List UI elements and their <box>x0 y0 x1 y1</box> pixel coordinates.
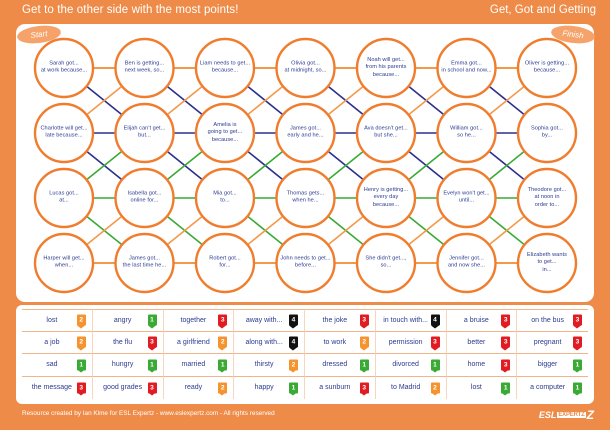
word-bank-word: angry <box>114 317 132 324</box>
points-badge: 3 <box>148 382 157 393</box>
points-badge-tail <box>218 370 226 373</box>
word-bank-word: away with... <box>246 317 283 324</box>
game-circle[interactable] <box>357 169 415 227</box>
points-badge-tail <box>431 325 439 328</box>
points-badge: 2 <box>77 337 86 348</box>
points-badge-tail <box>431 370 439 373</box>
points-badge: 2 <box>289 359 298 370</box>
word-bank-cell[interactable]: thirsty2 <box>234 354 305 377</box>
word-bank-word: a girlfriend <box>177 339 210 346</box>
game-circle[interactable] <box>196 39 254 97</box>
points-badge-tail <box>360 325 368 328</box>
word-bank-cell[interactable]: hungry1 <box>93 354 164 377</box>
game-circle[interactable] <box>438 39 496 97</box>
points-badge: 4 <box>289 337 298 348</box>
word-bank-word: happy <box>255 384 274 391</box>
word-bank-cell[interactable]: along with...4 <box>234 332 305 355</box>
game-circle[interactable] <box>438 169 496 227</box>
word-bank-word: on the bus <box>531 317 564 324</box>
word-bank-cell[interactable]: lost1 <box>447 377 518 400</box>
word-bank-cell[interactable]: a job2 <box>22 332 93 355</box>
word-bank-word: a computer <box>530 384 565 391</box>
points-badge-tail <box>77 393 85 396</box>
word-bank-word: ready <box>185 384 203 391</box>
points-badge: 3 <box>360 382 369 393</box>
game-circle[interactable] <box>277 104 335 162</box>
points-badge-tail <box>218 325 226 328</box>
points-badge-tail <box>77 370 85 373</box>
word-bank-cell[interactable]: ready2 <box>164 377 235 400</box>
points-badge: 2 <box>360 337 369 348</box>
page-subtitle: Get, Got and Getting <box>490 4 596 16</box>
points-badge-tail <box>501 325 509 328</box>
logo-main-text: ESL <box>539 410 557 420</box>
game-circle[interactable] <box>357 104 415 162</box>
points-badge-tail <box>501 370 509 373</box>
word-bank-cell[interactable]: lost2 <box>22 309 93 332</box>
game-board-network <box>16 24 594 302</box>
points-badge: 1 <box>148 315 157 326</box>
word-bank-cell[interactable]: to Madrid2 <box>376 377 447 400</box>
points-badge: 2 <box>431 382 440 393</box>
points-badge-tail <box>289 393 297 396</box>
game-circle[interactable] <box>35 104 93 162</box>
points-badge-tail <box>148 325 156 328</box>
points-badge: 3 <box>501 315 510 326</box>
word-bank-cell[interactable]: a bruise3 <box>447 309 518 332</box>
points-badge-tail <box>77 325 85 328</box>
points-badge-tail <box>77 347 85 350</box>
points-badge: 3 <box>431 337 440 348</box>
game-circle[interactable] <box>116 39 174 97</box>
game-circle[interactable] <box>518 104 576 162</box>
word-bank-cell[interactable]: better3 <box>447 332 518 355</box>
word-bank-word: permission <box>389 339 423 346</box>
word-bank-word: bigger <box>538 361 557 368</box>
points-badge: 1 <box>218 359 227 370</box>
points-badge-tail <box>148 370 156 373</box>
points-badge: 1 <box>148 359 157 370</box>
points-badge-tail <box>501 393 509 396</box>
word-bank-word: hungry <box>112 361 133 368</box>
word-bank-word: a bruise <box>464 317 489 324</box>
word-bank-cell[interactable]: away with...4 <box>234 309 305 332</box>
game-circle[interactable] <box>277 39 335 97</box>
game-circle[interactable] <box>518 169 576 227</box>
word-bank-cell[interactable]: angry1 <box>93 309 164 332</box>
word-bank-cell[interactable]: married1 <box>164 354 235 377</box>
points-badge-tail <box>218 393 226 396</box>
logo-z-mark: Z <box>587 408 594 422</box>
game-circle[interactable] <box>35 39 93 97</box>
word-bank-word: married <box>182 361 206 368</box>
points-badge: 1 <box>77 359 86 370</box>
game-circle[interactable] <box>277 169 335 227</box>
word-bank-word: better <box>467 339 485 346</box>
points-badge: 3 <box>573 337 582 348</box>
word-bank-cell[interactable]: permission3 <box>376 332 447 355</box>
word-bank-cell[interactable]: a sunburn3 <box>305 377 376 400</box>
word-bank-cell[interactable]: good grades3 <box>93 377 164 400</box>
points-badge: 3 <box>218 315 227 326</box>
game-circle[interactable] <box>518 234 576 292</box>
game-circle[interactable] <box>116 234 174 292</box>
points-badge: 4 <box>289 315 298 326</box>
word-bank-word: divorced <box>392 361 418 368</box>
word-bank-word: a job <box>44 339 59 346</box>
game-circle[interactable] <box>35 234 93 292</box>
word-bank-cell[interactable]: bigger1 <box>517 354 588 377</box>
worksheet-page: Get to the other side with the most poin… <box>0 0 610 430</box>
word-bank-word: to work <box>324 339 347 346</box>
points-badge: 3 <box>148 337 157 348</box>
word-bank-table: lost2angry1together3away with...4the jok… <box>22 309 588 399</box>
game-circle[interactable] <box>438 104 496 162</box>
word-bank-cell[interactable]: together3 <box>164 309 235 332</box>
game-circle[interactable] <box>357 39 415 97</box>
points-badge: 3 <box>77 382 86 393</box>
page-header: Get to the other side with the most poin… <box>0 0 610 22</box>
word-bank-cell[interactable]: home3 <box>447 354 518 377</box>
game-circle[interactable] <box>438 234 496 292</box>
points-badge-tail <box>431 393 439 396</box>
word-bank-word: together <box>181 317 207 324</box>
points-badge: 1 <box>573 382 582 393</box>
points-badge-tail <box>573 347 581 350</box>
points-badge-tail <box>501 347 509 350</box>
word-bank-word: good grades <box>103 384 142 391</box>
points-badge-tail <box>218 347 226 350</box>
word-bank-cell[interactable]: the joke3 <box>305 309 376 332</box>
points-badge-tail <box>360 393 368 396</box>
page-title: Get to the other side with the most poin… <box>22 4 239 16</box>
word-bank-word: pregnant <box>534 339 562 346</box>
word-bank-cell[interactable]: the flu3 <box>93 332 164 355</box>
word-bank-word: sad <box>46 361 57 368</box>
points-badge-tail <box>289 325 297 328</box>
word-bank-word: thirsty <box>255 361 274 368</box>
points-badge-tail <box>360 347 368 350</box>
footer-credit: Resource created by Ian Klme for ESL Exp… <box>22 410 275 417</box>
points-badge-tail <box>148 347 156 350</box>
points-badge: 1 <box>501 382 510 393</box>
word-bank-cell[interactable]: happy1 <box>234 377 305 400</box>
points-badge-tail <box>573 370 581 373</box>
word-bank-word: lost <box>471 384 482 391</box>
word-bank-word: the flu <box>113 339 132 346</box>
word-bank-word: dressed <box>322 361 347 368</box>
word-bank-cell[interactable]: divorced1 <box>376 354 447 377</box>
word-bank-cell[interactable]: the message3 <box>22 377 93 400</box>
page-footer: Resource created by Ian Klme for ESL Exp… <box>0 404 610 430</box>
esl-expertz-logo: ESL EXPERTZ Z <box>539 408 594 422</box>
points-badge: 3 <box>573 315 582 326</box>
game-circle[interactable] <box>116 169 174 227</box>
game-circle[interactable] <box>35 169 93 227</box>
points-badge: 1 <box>573 359 582 370</box>
points-badge-tail <box>573 325 581 328</box>
points-badge: 3 <box>501 337 510 348</box>
word-bank-cell[interactable]: dressed1 <box>305 354 376 377</box>
game-circle[interactable] <box>518 39 576 97</box>
points-badge-tail <box>360 370 368 373</box>
word-bank-word: a sunburn <box>319 384 350 391</box>
points-badge-tail <box>289 370 297 373</box>
word-bank-cell[interactable]: to work2 <box>305 332 376 355</box>
word-bank-cell[interactable]: pregnant3 <box>517 332 588 355</box>
word-bank-word: in touch with... <box>383 317 428 324</box>
game-circle[interactable] <box>196 234 254 292</box>
word-bank-cell[interactable]: on the bus3 <box>517 309 588 332</box>
points-badge: 1 <box>289 382 298 393</box>
logo-sub-text: EXPERTZ <box>557 412 585 418</box>
word-bank-cell[interactable]: sad1 <box>22 354 93 377</box>
points-badge: 1 <box>431 359 440 370</box>
word-bank-cell[interactable]: in touch with...4 <box>376 309 447 332</box>
points-badge-tail <box>573 393 581 396</box>
game-circle[interactable] <box>196 104 254 162</box>
points-badge-tail <box>289 347 297 350</box>
game-circle[interactable] <box>277 234 335 292</box>
points-badge-tail <box>431 347 439 350</box>
word-bank-word: along with... <box>245 339 282 346</box>
word-bank-word: lost <box>46 317 57 324</box>
points-badge: 1 <box>360 359 369 370</box>
points-badge: 3 <box>360 315 369 326</box>
game-circle[interactable] <box>116 104 174 162</box>
word-bank-word: the joke <box>323 317 348 324</box>
word-bank-word: to Madrid <box>391 384 420 391</box>
points-badge: 4 <box>431 315 440 326</box>
word-bank-word: home <box>468 361 486 368</box>
word-bank-cell[interactable]: a computer1 <box>517 377 588 400</box>
points-badge: 2 <box>77 315 86 326</box>
game-circle[interactable] <box>357 234 415 292</box>
points-badge: 3 <box>501 359 510 370</box>
points-badge: 2 <box>218 337 227 348</box>
game-circle[interactable] <box>196 169 254 227</box>
points-badge-tail <box>148 393 156 396</box>
points-badge: 2 <box>218 382 227 393</box>
word-bank-cell[interactable]: a girlfriend2 <box>164 332 235 355</box>
word-bank-word: the message <box>32 384 72 391</box>
